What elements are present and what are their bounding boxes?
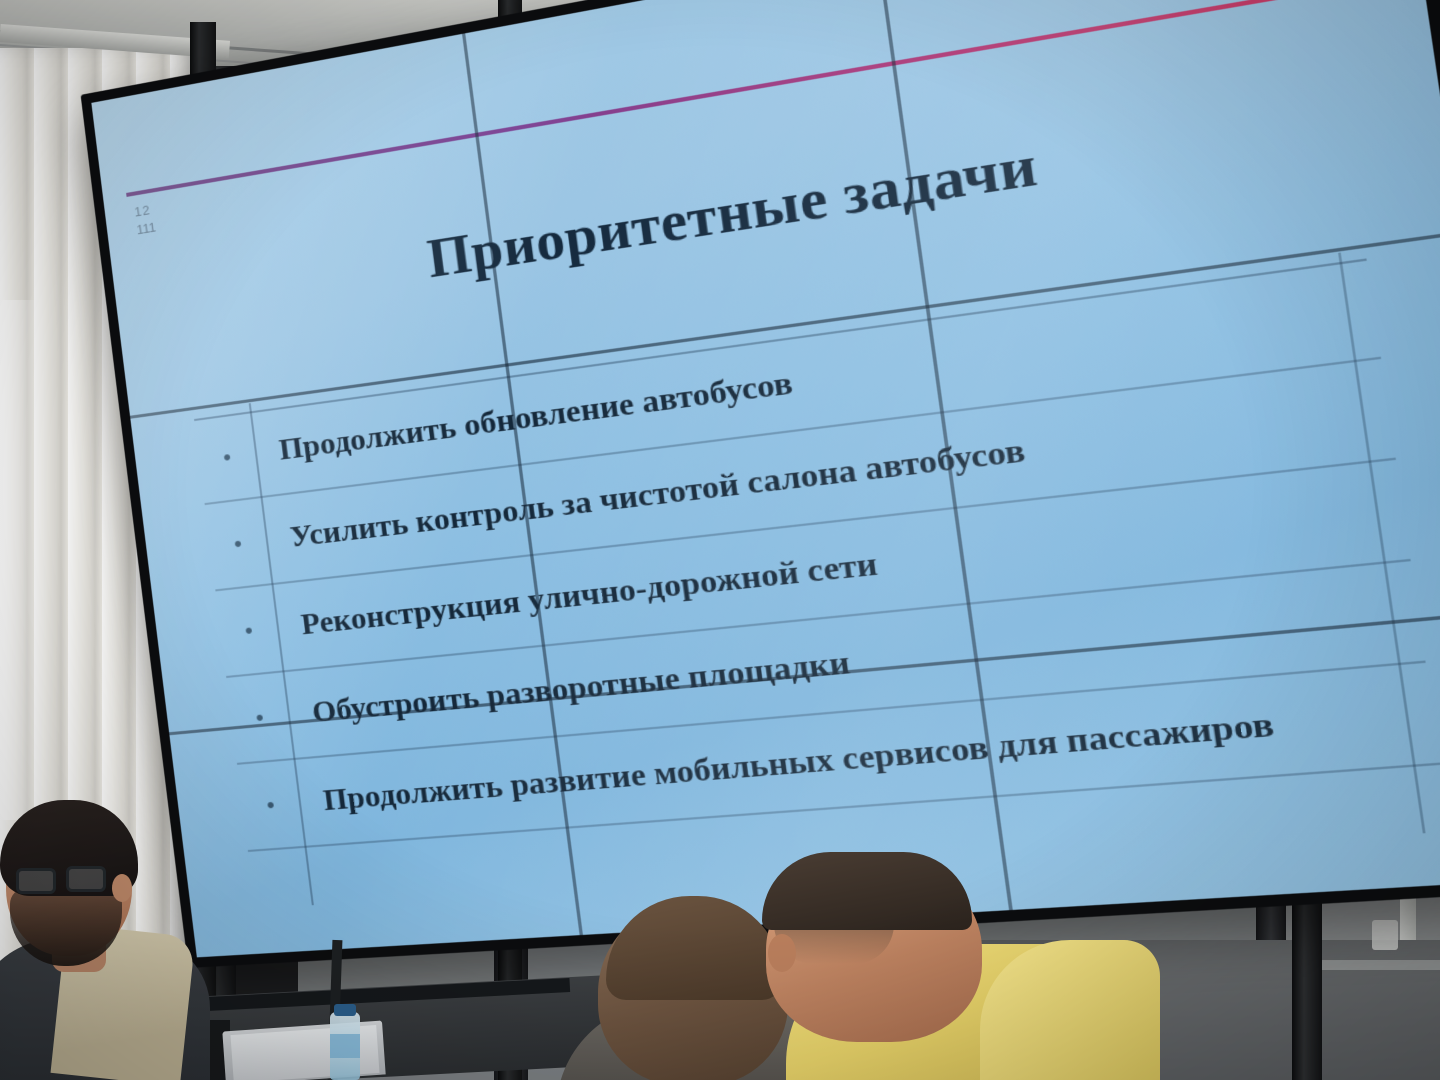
attendee-right-hair <box>762 852 972 930</box>
conference-room-scene: ЗАДАЧИ 12 111 Приоритетные задачи • П <box>0 0 1440 1080</box>
attendee-center-hair <box>606 896 782 1000</box>
attendee-left-glasses-lens-left <box>16 868 56 894</box>
attendee-left-glasses-lens-right <box>66 866 106 892</box>
attendee-right-ear <box>768 934 796 972</box>
foreground-layer <box>0 0 1440 1080</box>
water-bottle-label <box>330 1034 360 1058</box>
attendee-left-ear <box>112 874 132 902</box>
water-bottle-cap <box>334 1004 356 1016</box>
